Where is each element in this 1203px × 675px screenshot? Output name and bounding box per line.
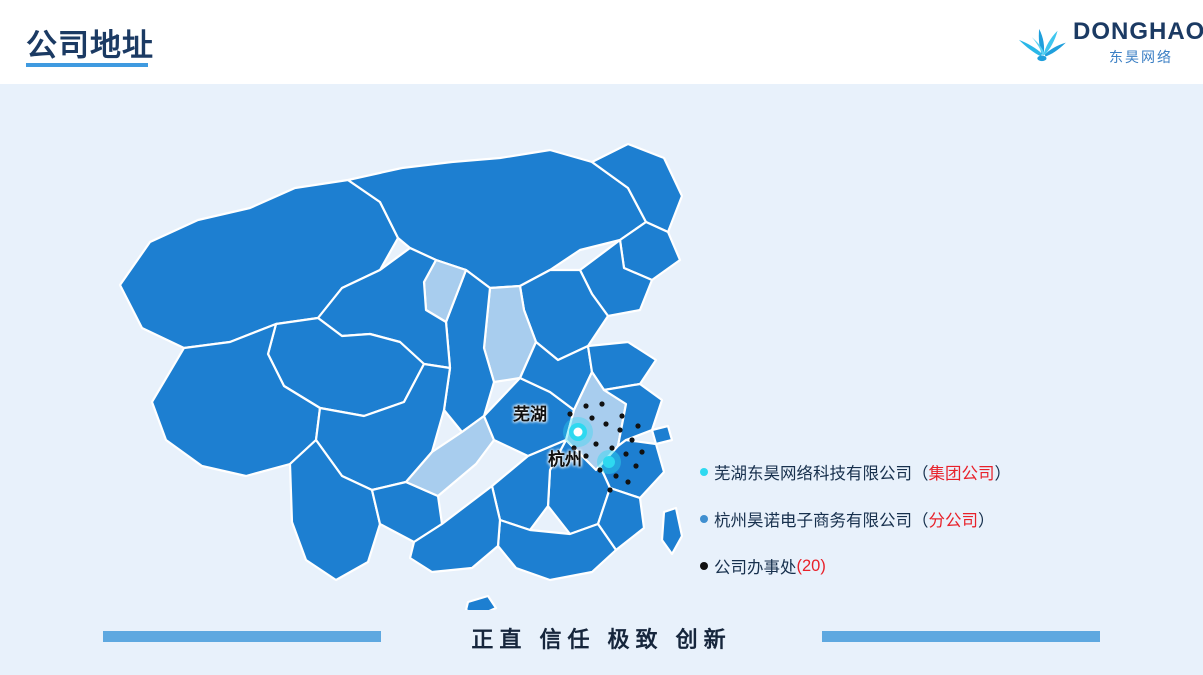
legend-tail-1: ）	[995, 460, 1012, 484]
legend-highlight-1: 集团公司	[929, 460, 995, 484]
title-underline	[26, 63, 148, 67]
page-title: 公司地址	[26, 20, 154, 65]
legend-highlight-3: (20)	[797, 557, 826, 576]
legend-dot-cyan-icon	[700, 468, 708, 476]
city-label-wuhu: 芜湖	[513, 400, 547, 425]
donghao-fan-icon	[1013, 16, 1069, 62]
legend-item-branch-company: 杭州昊诺电子商务有限公司（ 分公司 ）	[700, 507, 1160, 531]
china-map-area: 芜湖 杭州	[80, 110, 720, 610]
legend-item-group-company: 芜湖东昊网络科技有限公司（ 集团公司 ）	[700, 460, 1160, 484]
wuhu-marker	[563, 417, 593, 447]
legend-text-2: 杭州昊诺电子商务有限公司（	[714, 507, 929, 531]
legend-tail-2: ）	[978, 507, 995, 531]
city-label-hangzhou: 杭州	[548, 445, 582, 470]
legend-dot-black-icon	[700, 562, 708, 570]
legend-dot-blue-icon	[700, 515, 708, 523]
legend-text-1: 芜湖东昊网络科技有限公司（	[714, 460, 929, 484]
legend: 芜湖东昊网络科技有限公司（ 集团公司 ） 杭州昊诺电子商务有限公司（ 分公司 ）…	[700, 460, 1160, 601]
page-header: 公司地址 DONGHAO 东昊网络	[0, 0, 1203, 84]
legend-text-3: 公司办事处	[714, 554, 797, 578]
legend-highlight-2: 分公司	[929, 507, 979, 531]
logo-text-en: DONGHAO	[1073, 18, 1203, 46]
logo-text-cn: 东昊网络	[1109, 47, 1173, 67]
legend-item-offices: 公司办事处 (20)	[700, 554, 1160, 578]
brand-logo: DONGHAO 东昊网络	[1013, 12, 1181, 70]
footer-slogan: 正直 信任 极致 创新	[0, 622, 1203, 654]
china-map-icon	[80, 110, 720, 610]
